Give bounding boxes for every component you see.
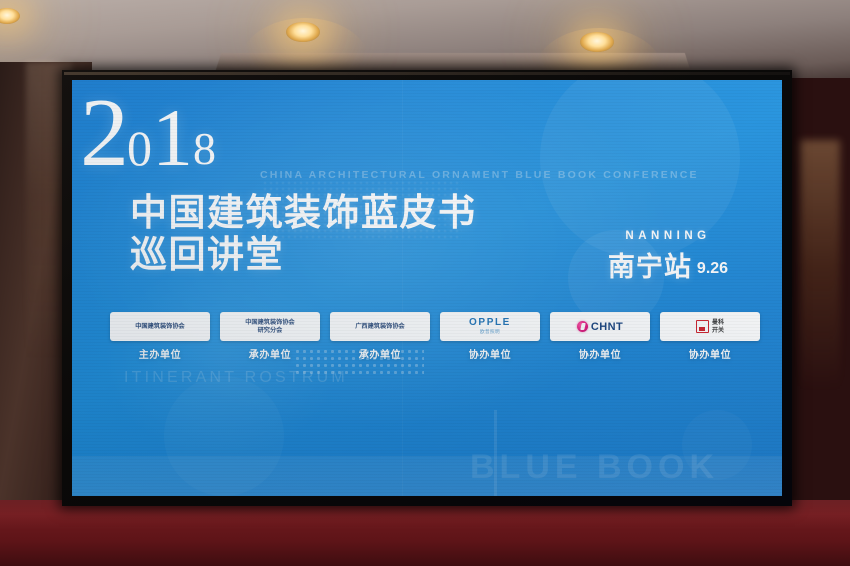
panel-seam xyxy=(402,80,403,496)
bezel-highlight xyxy=(64,72,790,75)
itinerant-rostrum-text: ITINERANT ROSTRUM xyxy=(124,369,348,387)
sponsor-logo-manke: 曼科 开关 xyxy=(660,312,760,341)
sponsor-item: 中国建筑装饰协会 主办单位 xyxy=(110,312,210,361)
sponsor-role: 主办单位 xyxy=(110,346,210,361)
ceiling-downlight-icon xyxy=(580,32,614,52)
slide-title-line2: 巡回讲堂 xyxy=(130,234,477,276)
city-block: NANNING 南宁站9.26 xyxy=(578,230,758,284)
sponsor-logo-line2: 研究分会 xyxy=(258,327,283,335)
year-digit-1: 2 xyxy=(80,80,127,187)
manke-wordmark-line2: 开关 xyxy=(712,327,724,334)
screen-bottom-band xyxy=(72,456,782,496)
sponsor-logo-chnt: CHNT xyxy=(550,312,650,341)
sponsor-row: 中国建筑装饰协会 主办单位 中国建筑装饰协会 研究分会 承办单位 广西建筑装饰协… xyxy=(110,312,760,361)
english-subtitle: CHINA ARCHITECTURAL ORNAMENT BLUE BOOK C… xyxy=(260,169,699,181)
opple-wordmark: OPPLE xyxy=(469,318,511,328)
manke-mark-icon xyxy=(696,320,709,333)
city-name-english: NANNING xyxy=(578,230,758,242)
city-name-row: 南宁站9.26 xyxy=(578,245,758,284)
sponsor-item: 中国建筑装饰协会 研究分会 承办单位 xyxy=(220,312,320,361)
sponsor-role: 协办单位 xyxy=(660,346,760,361)
sponsor-item: 曼科 开关 协办单位 xyxy=(660,312,760,361)
city-name-chinese: 南宁站 xyxy=(608,252,692,283)
sponsor-logo-line1: 中国建筑装饰协会 xyxy=(245,319,295,327)
manke-logo-row: 曼科 开关 xyxy=(696,319,724,335)
sponsor-logo: 中国建筑装饰协会 研究分会 xyxy=(220,312,320,341)
sponsor-item: OPPLE 欧普照明 协办单位 xyxy=(440,312,540,361)
sponsor-item: CHNT 协办单位 xyxy=(550,312,650,361)
manke-wordmark: 曼科 开关 xyxy=(712,319,724,335)
slide-title: 中国建筑装饰蓝皮书 巡回讲堂 xyxy=(130,192,477,276)
wall-right-sheen xyxy=(800,140,840,390)
sponsor-logo: 中国建筑装饰协会 xyxy=(110,312,210,341)
chnt-mark-icon xyxy=(577,321,588,332)
sponsor-role: 承办单位 xyxy=(330,346,430,361)
sponsor-logo-line1: 中国建筑装饰协会 xyxy=(135,323,185,331)
sponsor-role: 承办单位 xyxy=(220,346,320,361)
chnt-logo-row: CHNT xyxy=(577,321,623,333)
sponsor-logo-line1: 广西建筑装饰协会 xyxy=(355,323,405,331)
year-headline: 2018 xyxy=(80,84,216,182)
event-date: 9.26 xyxy=(697,260,728,277)
ceiling-downlight-icon xyxy=(286,22,320,42)
year-digit-2: 0 xyxy=(127,120,152,176)
year-digit-4: 8 xyxy=(193,123,216,174)
sponsor-logo: 广西建筑装饰协会 xyxy=(330,312,430,341)
slide-title-line1: 中国建筑装饰蓝皮书 xyxy=(130,191,477,234)
year-digit-3: 1 xyxy=(152,92,193,183)
conference-room-photo: 2018 CHINA ARCHITECTURAL ORNAMENT BLUE B… xyxy=(0,0,850,566)
sponsor-logo-opple: OPPLE 欧普照明 xyxy=(440,312,540,341)
led-screen: 2018 CHINA ARCHITECTURAL ORNAMENT BLUE B… xyxy=(72,80,782,496)
sponsor-role: 协办单位 xyxy=(550,346,650,361)
sponsor-item: 广西建筑装饰协会 承办单位 xyxy=(330,312,430,361)
chnt-wordmark: CHNT xyxy=(591,321,623,333)
sponsor-role: 协办单位 xyxy=(440,346,540,361)
opple-subtext: 欧普照明 xyxy=(480,329,500,335)
manke-wordmark-line1: 曼科 xyxy=(712,319,724,326)
